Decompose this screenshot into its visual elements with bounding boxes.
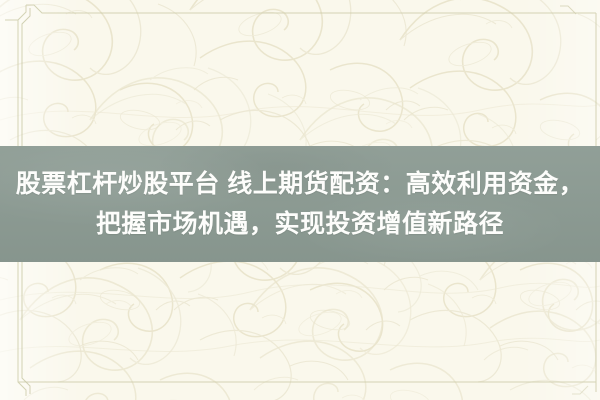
banner-headline-text: 股票杠杆炒股平台 线上期货配资：高效利用资金，把握市场机遇，实现投资增值新路径: [10, 164, 590, 244]
banner-image-canvas: 股票杠杆炒股平台 线上期货配资：高效利用资金，把握市场机遇，实现投资增值新路径: [0, 0, 600, 400]
headline-banner: 股票杠杆炒股平台 线上期货配资：高效利用资金，把握市场机遇，实现投资增值新路径: [0, 146, 600, 262]
